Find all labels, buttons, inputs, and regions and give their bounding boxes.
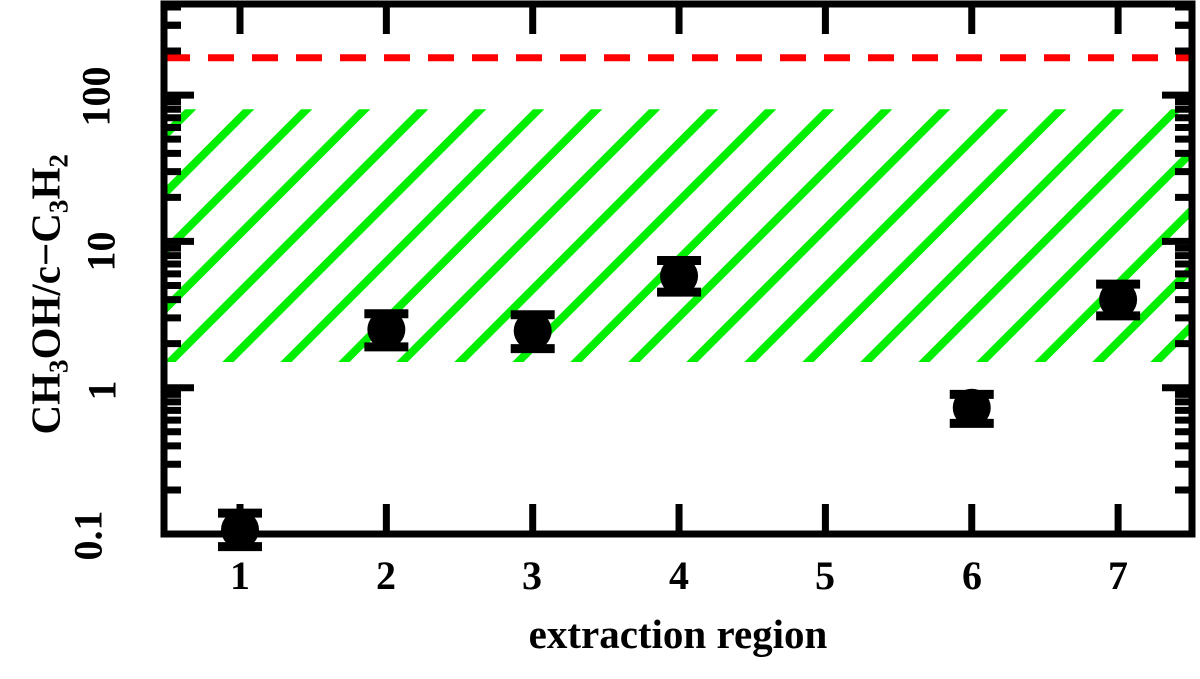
data-point-region-6: [950, 389, 994, 427]
data-point-region-4: [657, 257, 701, 295]
data-point-region-7: [1096, 281, 1140, 319]
plot-area: [0, 0, 1200, 679]
data-point-region-2: [364, 310, 408, 348]
figure-canvas: CH3OH/c−C3H2 extraction region WB89−789 …: [0, 0, 1200, 679]
